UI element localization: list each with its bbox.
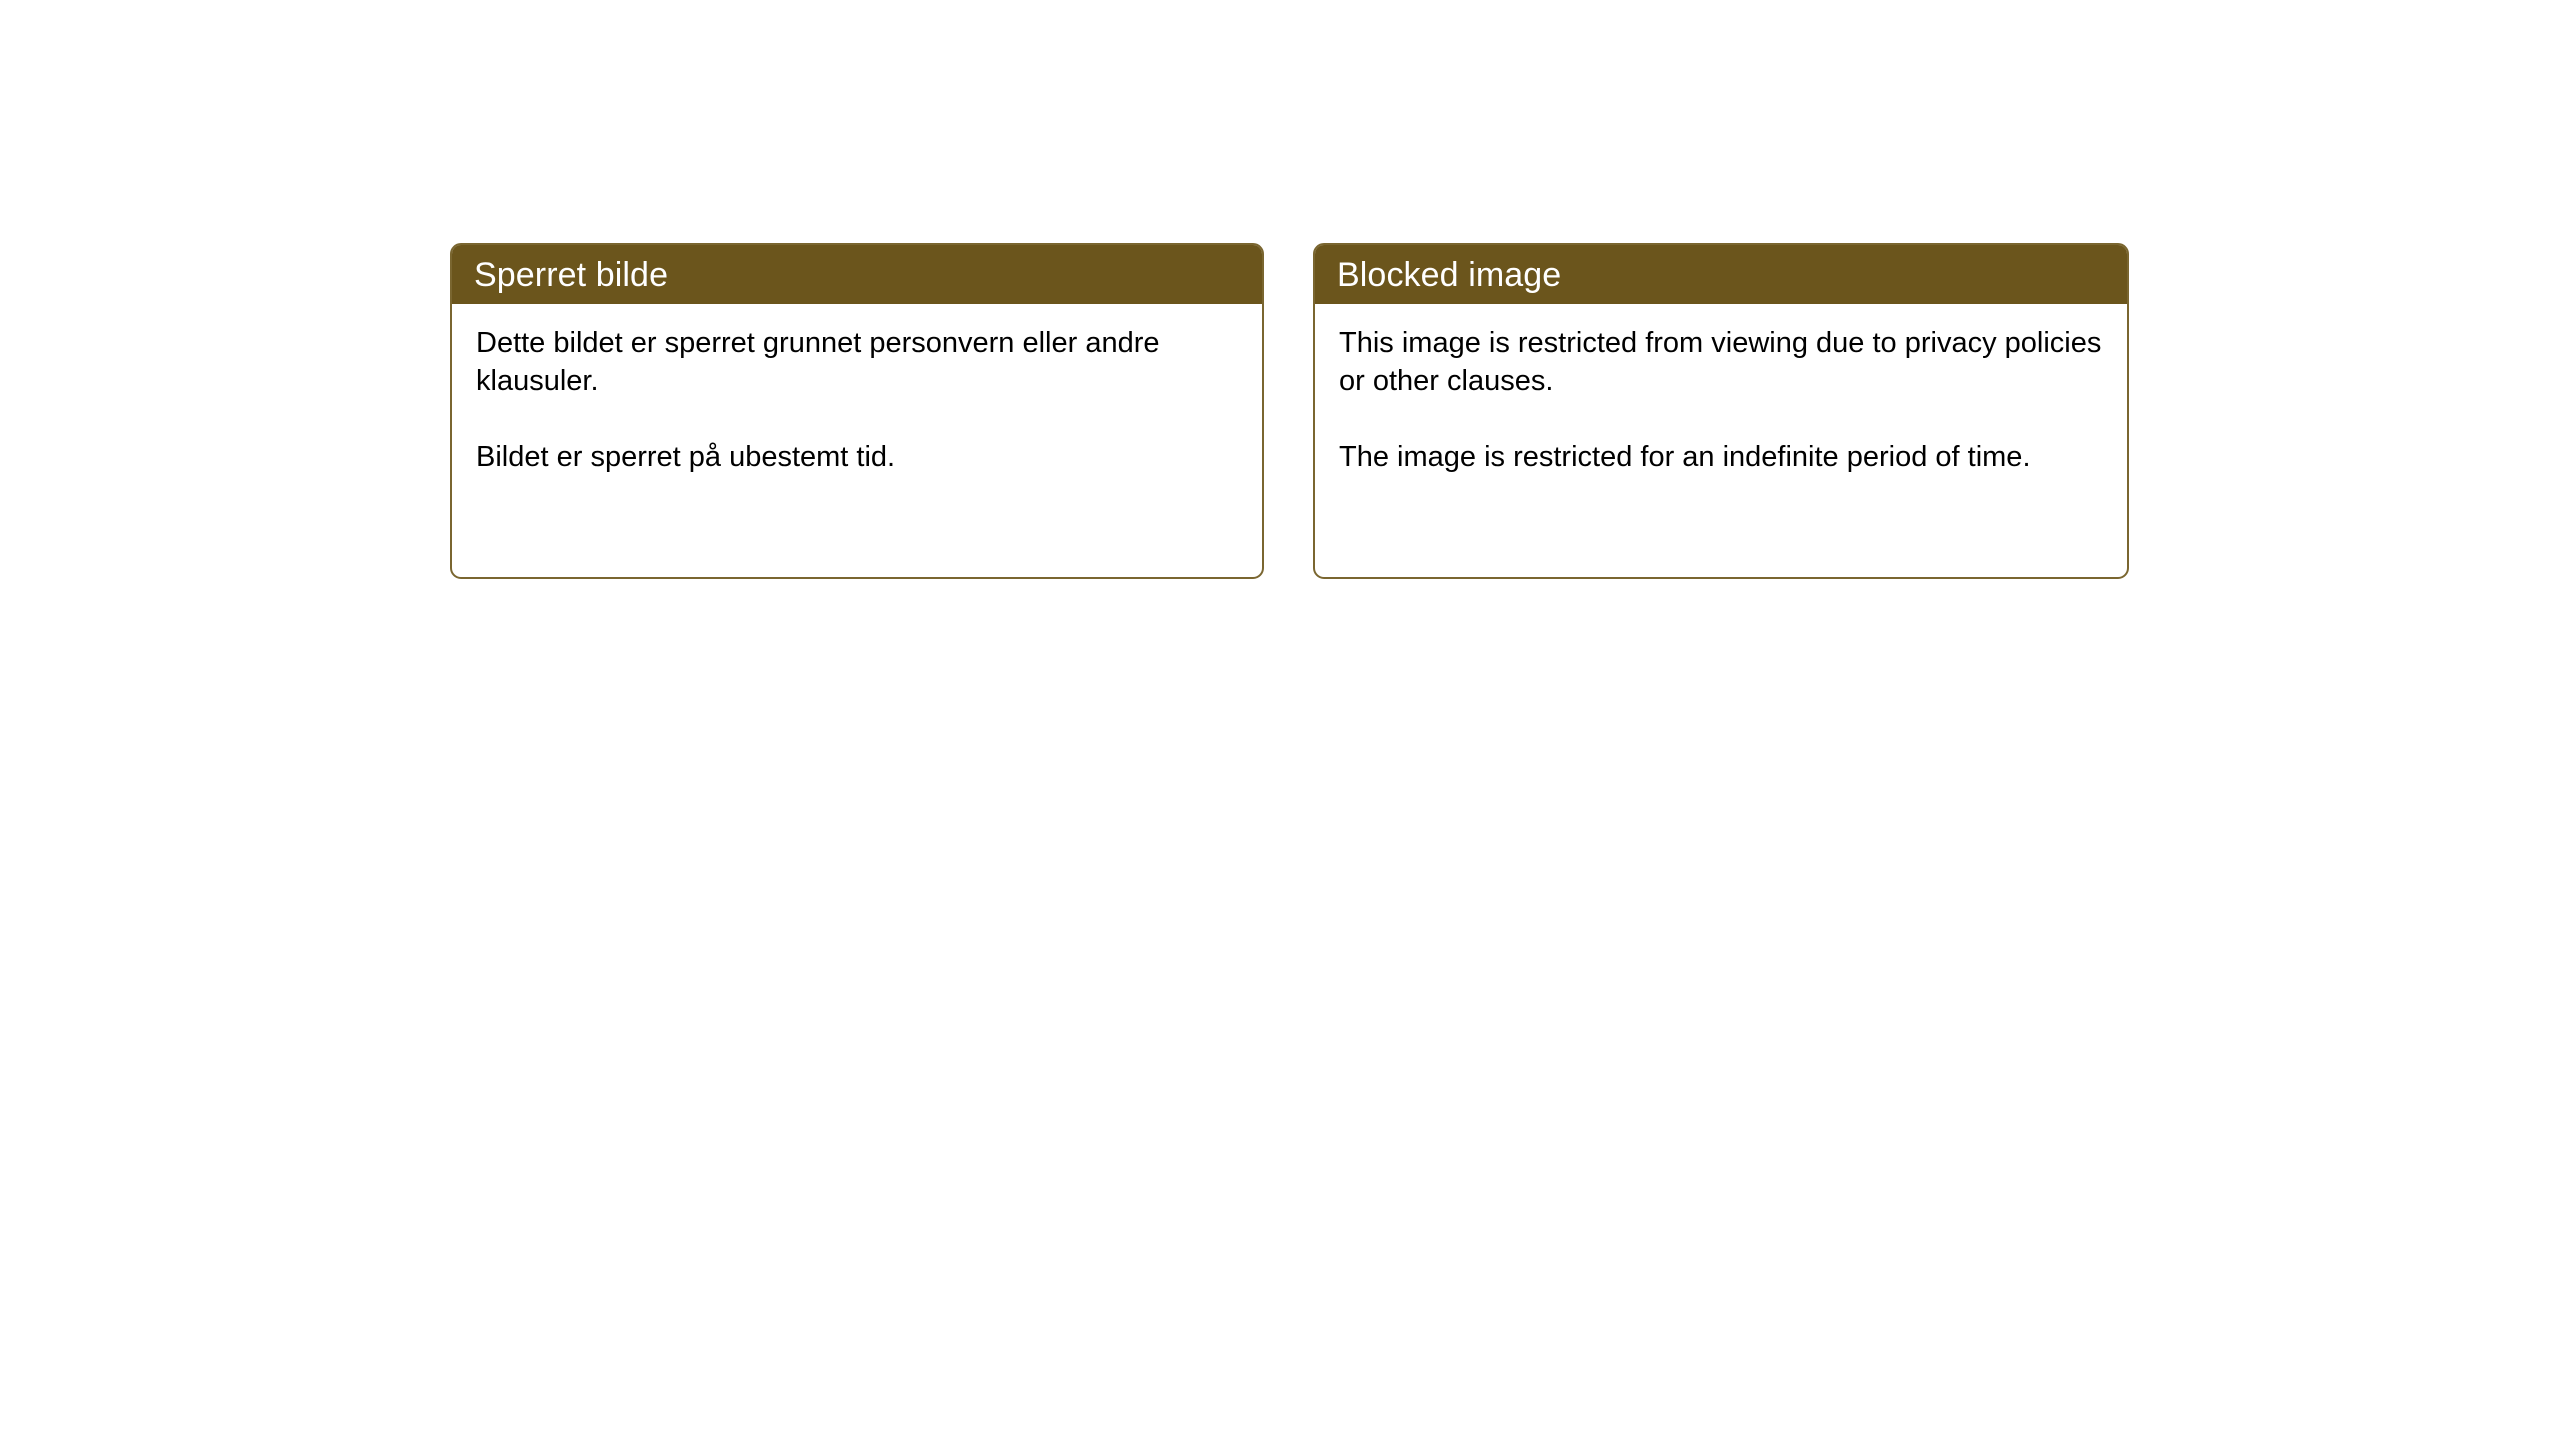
paragraph-spacer <box>476 400 1238 438</box>
card-title-english: Blocked image <box>1337 255 1561 295</box>
card-paragraph-secondary-norwegian: Bildet er sperret på ubestemt tid. <box>476 438 1238 476</box>
card-title-norwegian: Sperret bilde <box>474 255 668 295</box>
card-paragraph-primary-english: This image is restricted from viewing du… <box>1339 324 2103 400</box>
blocked-image-notice-card-english: Blocked image This image is restricted f… <box>1313 243 2129 579</box>
paragraph-spacer <box>1339 400 2103 438</box>
page-canvas: Sperret bilde Dette bildet er sperret gr… <box>0 0 2560 1440</box>
blocked-image-notice-card-norwegian: Sperret bilde Dette bildet er sperret gr… <box>450 243 1264 579</box>
card-body-english: This image is restricted from viewing du… <box>1315 304 2127 476</box>
card-paragraph-primary-norwegian: Dette bildet er sperret grunnet personve… <box>476 324 1238 400</box>
card-header-norwegian: Sperret bilde <box>452 245 1262 304</box>
card-paragraph-secondary-english: The image is restricted for an indefinit… <box>1339 438 2103 476</box>
card-body-norwegian: Dette bildet er sperret grunnet personve… <box>452 304 1262 476</box>
card-header-english: Blocked image <box>1315 245 2127 304</box>
